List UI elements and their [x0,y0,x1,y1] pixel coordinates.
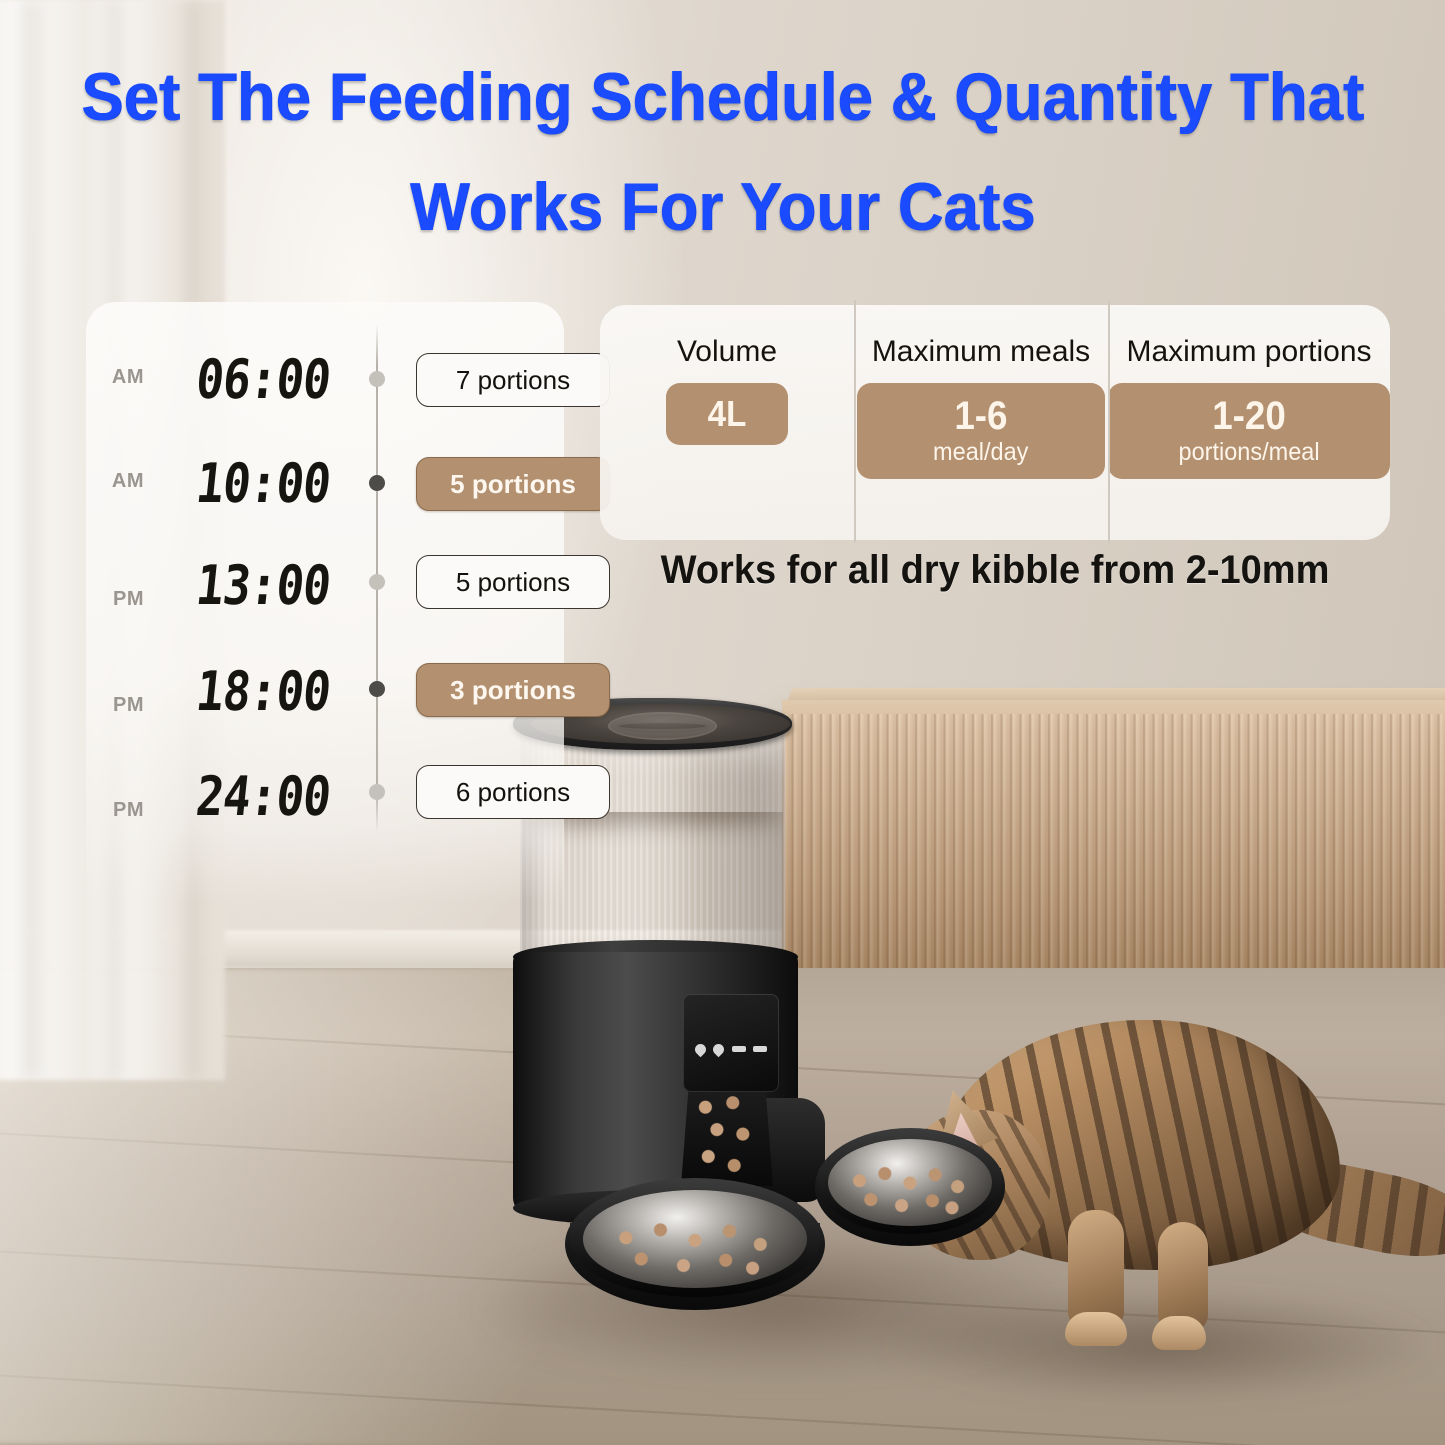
portion-pill[interactable]: 7 portions [416,353,610,407]
portion-drop-icon [692,1041,708,1057]
kibble-compatibility-note: Works for all dry kibble from 2-10mm [620,548,1371,593]
wooden-cabinet [782,700,1445,1000]
feeding-bowl-left [565,1178,825,1310]
portion-pill-active[interactable]: 5 portions [416,457,610,511]
spec-unit-max-portions: portions/meal [1178,437,1319,467]
meridiem-label: PM [100,799,144,822]
spec-column-volume: Volume 4L [600,305,854,540]
schedule-time: 10:00 [147,451,334,515]
specifications-panel: Volume 4L Maximum meals 1-6 meal/day Max… [600,305,1390,540]
lid-ring [608,712,717,740]
schedule-time: 13:00 [147,553,334,617]
cat-paw [1152,1316,1206,1350]
infographic-canvas: Set The Feeding Schedule & Quantity That… [0,0,1445,1445]
schedule-rows: AM 06:00 7 portions AM 10:00 5 portions … [86,302,564,842]
power-icon [753,1046,767,1052]
headline: Set The Feeding Schedule & Quantity That… [51,42,1395,262]
portion-drop-icon [711,1041,727,1057]
portion-pill-active[interactable]: 3 portions [416,663,610,717]
schedule-time: 18:00 [147,659,334,723]
spec-label-volume: Volume [677,335,777,369]
portion-pill[interactable]: 5 portions [416,555,610,609]
spec-label-max-meals: Maximum meals [872,335,1090,369]
bowl-kibble [599,1218,791,1284]
spec-value-box-max-portions: 1-20 portions/meal [1108,383,1390,479]
meridiem-label: AM [100,366,144,389]
timeline-dot-active [369,475,385,491]
meridiem-label: PM [100,694,144,717]
headline-line-2: Works For Your Cats [51,152,1395,262]
meridiem-label: AM [100,470,144,493]
cat-paw [1065,1312,1127,1346]
timeline-dot-active [369,681,385,697]
spec-label-max-portions: Maximum portions [1126,335,1371,369]
battery-icon [732,1046,746,1052]
spec-unit-max-meals: meal/day [933,437,1028,467]
portion-pill[interactable]: 6 portions [416,765,610,819]
spec-column-max-meals: Maximum meals 1-6 meal/day [854,305,1108,540]
timeline-dot [369,574,385,590]
schedule-time: 06:00 [147,347,334,411]
spec-value-max-portions: 1-20 [1212,395,1286,437]
control-panel-indicators [691,1042,771,1056]
spec-column-max-portions: Maximum portions 1-20 portions/meal [1108,305,1390,540]
timeline-dot [369,784,385,800]
cabinet-shading [782,700,1445,1000]
timeline-dot [369,371,385,387]
spec-value-box-max-meals: 1-6 meal/day [857,383,1105,479]
schedule-time: 24:00 [147,764,334,828]
headline-line-1: Set The Feeding Schedule & Quantity That [51,42,1395,152]
curtain-fold [24,0,50,1080]
feeding-schedule-panel: AM 06:00 7 portions AM 10:00 5 portions … [86,302,564,902]
spec-value-volume: 4L [708,395,747,433]
spec-value-box-volume: 4L [666,383,788,445]
spec-value-max-meals: 1-6 [954,395,1007,437]
feeding-bowl-right [815,1128,1005,1246]
meridiem-label: PM [100,588,144,611]
